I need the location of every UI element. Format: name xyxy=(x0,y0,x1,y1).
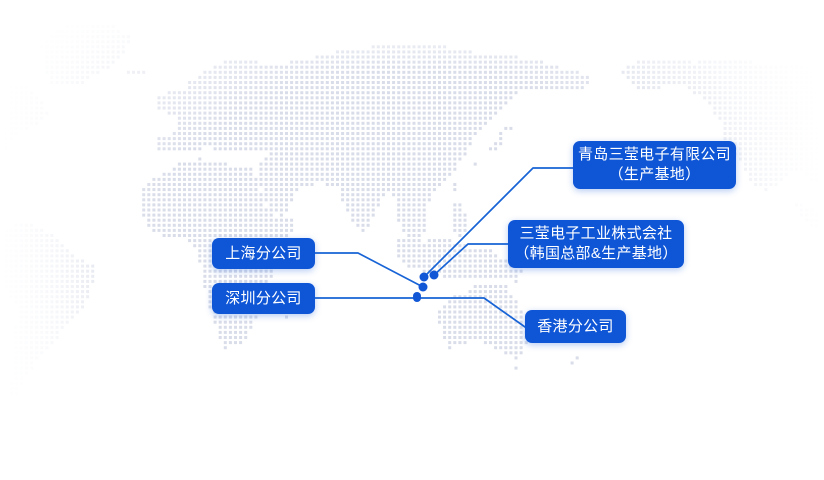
label-qingdao-line1: 青岛三莹电子有限公司 xyxy=(578,145,731,165)
label-qingdao-line2: （生产基地） xyxy=(609,165,701,185)
label-korea-hq[interactable]: 三莹电子工业株式会社 （韩国总部&生产基地） xyxy=(508,220,684,268)
label-korea-hq-line2: （韩国总部&生产基地） xyxy=(514,244,677,264)
label-hongkong-line1: 香港分公司 xyxy=(537,317,614,337)
connector-lines xyxy=(0,0,824,480)
site-dot-shanghai[interactable] xyxy=(419,283,428,292)
connector-shanghai xyxy=(315,253,423,287)
site-dot-qingdao[interactable] xyxy=(420,273,429,282)
label-qingdao[interactable]: 青岛三莹电子有限公司 （生产基地） xyxy=(573,141,736,189)
site-dot-hongkong[interactable] xyxy=(413,294,421,302)
connector-hongkong xyxy=(417,298,525,327)
label-shenzhen[interactable]: 深圳分公司 xyxy=(212,283,315,314)
world-map-locations-infographic: 青岛三莹电子有限公司 （生产基地） 三莹电子工业株式会社 （韩国总部&生产基地）… xyxy=(0,0,824,480)
connector-korea xyxy=(434,244,508,275)
site-dot-korea[interactable] xyxy=(430,271,439,280)
label-shenzhen-line1: 深圳分公司 xyxy=(225,289,302,309)
label-shanghai[interactable]: 上海分公司 xyxy=(212,238,315,269)
label-shanghai-line1: 上海分公司 xyxy=(225,244,302,264)
connectors-svg xyxy=(0,0,824,480)
label-hongkong[interactable]: 香港分公司 xyxy=(525,310,626,343)
label-korea-hq-line1: 三莹电子工业株式会社 xyxy=(519,224,672,244)
